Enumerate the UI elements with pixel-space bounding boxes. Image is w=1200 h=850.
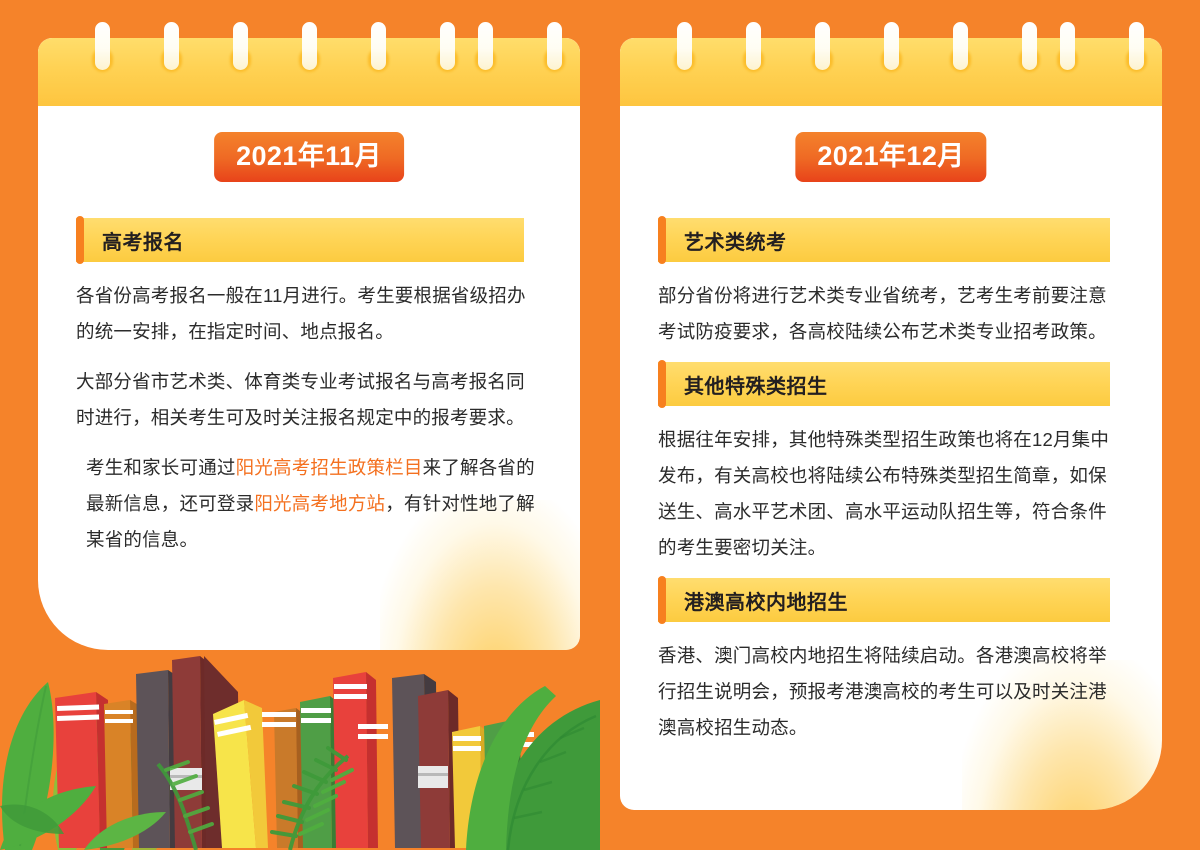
book-spine: [104, 700, 142, 848]
book-spine: [136, 670, 182, 848]
book-spine: [392, 674, 438, 848]
leaf-icon-cluster-front: [0, 686, 600, 850]
accent-bar-icon: [76, 216, 84, 264]
book-spine: [204, 656, 240, 848]
binding-ring-icon: [953, 22, 968, 74]
section-block: 高考报名 各省份高考报名一般在11月进行。考生要根据省级招办的统一安排，在指定时…: [76, 218, 562, 558]
binding-ring-icon: [478, 22, 493, 74]
section-header: 港澳高校内地招生: [658, 578, 1110, 622]
infographic-canvas: 2021年11月 高考报名 各省份高考报名一般在11月进行。考生要根据省级招办的…: [0, 0, 1200, 850]
binding-ring-icon: [164, 22, 179, 74]
binding-ring-icon: [302, 22, 317, 74]
book-row: [55, 656, 534, 848]
fern-frond-icon: [158, 762, 212, 850]
text-run: 大部分省市艺术类、体育类专业考试报名与高考报名同时进行，相关考生可及时关注报名规…: [76, 371, 525, 428]
fern-frond-icon: [272, 748, 352, 850]
text-run: 部分省份将进行艺术类专业省统考，艺考生考前要注意考试防疫要求，各高校陆续公布艺术…: [658, 285, 1107, 342]
paragraph: 部分省份将进行艺术类专业省统考，艺考生考前要注意考试防疫要求，各高校陆续公布艺术…: [658, 278, 1124, 350]
bookshelf-and-foliage-illustration: [0, 620, 600, 850]
binding-ring-icon: [371, 22, 386, 74]
leaf-icon-cluster-left: [2, 682, 186, 850]
section-title: 高考报名: [102, 226, 184, 255]
card-body: 2021年11月 高考报名 各省份高考报名一般在11月进行。考生要根据省级招办的…: [38, 38, 580, 650]
binding-ring-icon: [815, 22, 830, 74]
book-spine: [333, 672, 388, 848]
paragraph: 各省份高考报名一般在11月进行。考生要根据省级招办的统一安排，在指定时间、地点报…: [76, 278, 542, 350]
book-spine: [262, 708, 306, 848]
card-body: 2021年12月 艺术类统考 部分省份将进行艺术类专业省统考，艺考生考前要注意考…: [620, 38, 1162, 810]
section-header: 其他特殊类招生: [658, 362, 1110, 406]
book-spine: [170, 656, 212, 848]
section-header: 艺术类统考: [658, 218, 1110, 262]
binding-ring-icon: [440, 22, 455, 74]
section-block: 其他特殊类招生 根据往年安排，其他特殊类型招生政策也将在12月集中发布，有关高校…: [658, 362, 1144, 566]
section-block: 港澳高校内地招生 香港、澳门高校内地招生将陆续启动。各港澳高校将举行招生说明会，…: [658, 578, 1144, 746]
month-badge: 2021年11月: [214, 132, 404, 182]
section-block: 艺术类统考 部分省份将进行艺术类专业省统考，艺考生考前要注意考试防疫要求，各高校…: [658, 218, 1144, 350]
book-spine: [300, 696, 342, 848]
month-badge: 2021年12月: [795, 132, 986, 182]
spiral-binding-rings: [38, 22, 580, 92]
section-title: 港澳高校内地招生: [684, 586, 848, 615]
section-header: 高考报名: [76, 218, 524, 262]
binding-ring-icon: [1060, 22, 1075, 74]
binding-ring-icon: [1022, 22, 1037, 74]
calendar-card-november: 2021年11月 高考报名 各省份高考报名一般在11月进行。考生要根据省级招办的…: [38, 38, 580, 650]
accent-bar-icon: [658, 216, 666, 264]
paragraph: 香港、澳门高校内地招生将陆续启动。各港澳高校将举行招生说明会，预报考港澳高校的考…: [658, 638, 1124, 746]
paragraph: 大部分省市艺术类、体育类专业考试报名与高考报名同时进行，相关考生可及时关注报名规…: [76, 364, 542, 436]
text-run: 根据往年安排，其他特殊类型招生政策也将在12月集中发布，有关高校也将陆续公布特殊…: [658, 429, 1109, 558]
book-spine: [55, 692, 110, 848]
binding-ring-icon: [95, 22, 110, 74]
paragraph: 根据往年安排，其他特殊类型招生政策也将在12月集中发布，有关高校也将陆续公布特殊…: [658, 422, 1124, 566]
section-title: 其他特殊类招生: [684, 370, 828, 399]
accent-bar-icon: [658, 360, 666, 408]
text-run: 香港、澳门高校内地招生将陆续启动。各港澳高校将举行招生说明会，预报考港澳高校的考…: [658, 645, 1107, 738]
card-content: 高考报名 各省份高考报名一般在11月进行。考生要根据省级招办的统一安排，在指定时…: [76, 218, 562, 558]
calendar-card-december: 2021年12月 艺术类统考 部分省份将进行艺术类专业省统考，艺考生考前要注意考…: [620, 38, 1162, 810]
binding-ring-icon: [884, 22, 899, 74]
accent-bar-icon: [658, 576, 666, 624]
book-spine: [213, 700, 268, 848]
book-spine: [418, 690, 460, 848]
book-spine: [452, 726, 490, 848]
inline-link[interactable]: 阳光高考地方站: [254, 493, 385, 514]
binding-ring-icon: [746, 22, 761, 74]
paragraph: 考生和家长可通过阳光高考招生政策栏目来了解各省的最新信息，还可登录阳光高考地方站…: [76, 450, 546, 558]
inline-link[interactable]: 阳光高考招生政策栏目: [236, 457, 423, 478]
binding-ring-icon: [547, 22, 562, 74]
binding-ring-icon: [1129, 22, 1144, 74]
spiral-binding-rings: [620, 22, 1162, 92]
section-title: 艺术类统考: [684, 226, 787, 255]
book-spine: [484, 720, 534, 848]
binding-ring-icon: [233, 22, 248, 74]
binding-ring-icon: [677, 22, 692, 74]
text-run: 各省份高考报名一般在11月进行。考生要根据省级招办的统一安排，在指定时间、地点报…: [76, 285, 526, 342]
text-run: 考生和家长可通过: [86, 457, 236, 478]
card-content: 艺术类统考 部分省份将进行艺术类专业省统考，艺考生考前要注意考试防疫要求，各高校…: [658, 218, 1144, 746]
